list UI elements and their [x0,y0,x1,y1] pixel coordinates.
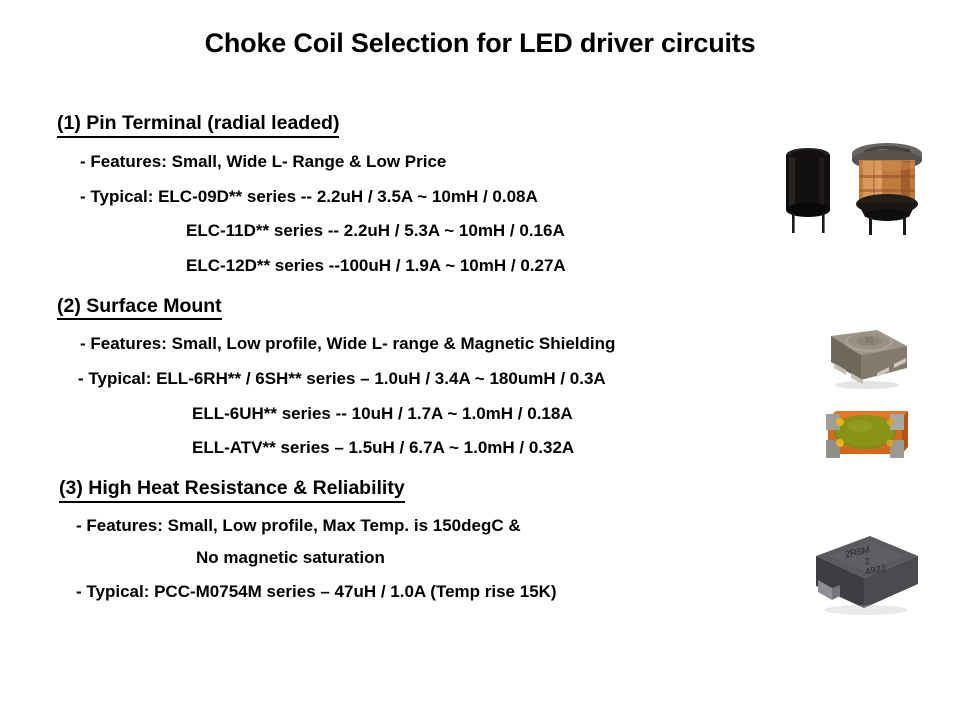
copper-wound-coil-icon [852,143,922,235]
smd-orange-inductor-photo [816,402,914,474]
features-line-high-heat-resistance-cont: No magnetic saturation [196,549,790,568]
typical-line-ell-atv: ELL-ATV** series – 1.5uH / 6.7A ~ 1.0mH … [192,439,790,458]
typical-line-ell-6uh: ELL-6UH** series -- 10uH / 1.7A ~ 1.0mH … [192,405,790,424]
section-pin-terminal: (1) Pin Terminal (radial leaded) - Featu… [0,113,790,276]
smd-orange-inductor-icon [826,411,908,458]
section-surface-mount: (2) Surface Mount - Features: Small, Low… [0,296,790,459]
typical-line-ell-6rh: - Typical: ELL-6RH** / 6SH** series – 1.… [78,370,790,389]
features-line-pin-terminal: - Features: Small, Wide L- Range & Low P… [80,153,790,172]
smd-shielded-inductor-photo: 35 [815,322,915,394]
pcc-molded-power-inductor-photo: 2R6M 2 492J [806,528,926,616]
section-high-heat-resistance: (3) High Heat Resistance & Reliability -… [0,478,790,602]
black-epoxy-coil-icon [786,148,830,233]
section-heading-surface-mount: (2) Surface Mount [57,296,222,321]
features-line-surface-mount: - Features: Small, Low profile, Wide L- … [80,335,790,354]
typical-line-elc-11d: ELC-11D** series -- 2.2uH / 5.3A ~ 10mH … [186,222,790,241]
smd-shielded-inductor-icon: 35 [831,330,907,389]
section-heading-high-heat-resistance: (3) High Heat Resistance & Reliability [59,478,405,503]
section-heading-pin-terminal: (1) Pin Terminal (radial leaded) [57,113,339,138]
features-line-high-heat-resistance: - Features: Small, Low profile, Max Temp… [76,517,790,536]
page-title: Choke Coil Selection for LED driver circ… [0,28,960,59]
typical-line-elc-09d: - Typical: ELC-09D** series -- 2.2uH / 3… [80,188,790,207]
svg-text:35: 35 [865,336,874,345]
typical-line-pcc-m0754m: - Typical: PCC-M0754M series – 47uH / 1.… [76,583,790,602]
typical-line-elc-12d: ELC-12D** series --100uH / 1.9A ~ 10mH /… [186,257,790,276]
radial-leaded-choke-coil-photo [775,137,955,237]
slide-body: (1) Pin Terminal (radial leaded) - Featu… [0,113,790,602]
pcc-molded-power-inductor-icon: 2R6M 2 492J [816,536,918,615]
